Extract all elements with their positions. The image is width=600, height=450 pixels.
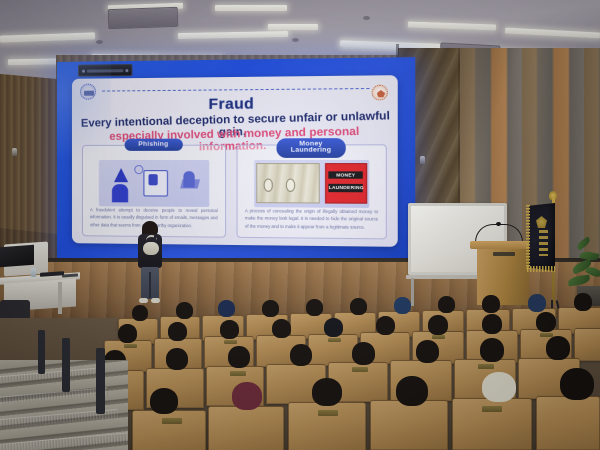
wall-sensor-icon: [420, 156, 425, 164]
podium-nameplate: [493, 252, 515, 256]
slide-background: Fraud Every intentional deception to sec…: [57, 57, 415, 265]
audience-head-cap: [528, 294, 546, 312]
audience-head: [536, 312, 556, 332]
ceiling-light: [178, 31, 288, 39]
audience-head: [176, 302, 193, 319]
ceiling-speaker: [292, 38, 299, 42]
water-bottle: [31, 268, 36, 277]
ceiling-light: [215, 5, 287, 11]
projection-screen[interactable]: Fraud Every intentional deception to sec…: [57, 57, 415, 265]
seat-number-plate: [124, 344, 137, 348]
seat-number-plate: [162, 418, 182, 424]
red-warning-block: MONEY LAUNDERING: [325, 163, 367, 204]
ceiling-vent: [108, 7, 179, 29]
seat-number-plate: [224, 340, 237, 344]
audience-head: [262, 300, 279, 317]
seat: [370, 400, 448, 450]
toolbar-dot-icon: [82, 69, 85, 72]
audience-head: [350, 298, 367, 315]
audience-head: [428, 315, 448, 335]
bubble-shape: [135, 165, 144, 174]
audience-head-white-cap: [482, 372, 516, 402]
audience-head: [228, 346, 250, 368]
organization-seal-logo-icon: [80, 84, 96, 100]
audience-head-cap: [394, 297, 411, 314]
audience-head: [438, 296, 455, 313]
graphic-text-money: MONEY: [329, 171, 363, 179]
seat: [574, 328, 600, 361]
audience-head: [306, 299, 323, 316]
control-monitor-screen: [0, 245, 34, 267]
presentation-toolbar[interactable]: [78, 64, 132, 77]
seat-number-plate: [478, 364, 494, 369]
seat: [536, 396, 600, 450]
banknote-portrait: [285, 178, 295, 191]
toolbar-dot-icon: [125, 69, 128, 72]
slide-card: Fraud Every intentional deception to sec…: [72, 75, 398, 247]
ceiling-speaker: [96, 40, 103, 44]
person-shape: [111, 184, 127, 202]
hook-shape: [114, 168, 128, 182]
panel-label-money-laundering: Money Laundering: [276, 138, 346, 158]
decorative-dashed-line: [102, 88, 369, 92]
whiteboard-leg: [411, 278, 414, 306]
panel-label-phishing: Phishing: [124, 139, 183, 151]
seat-number-plate: [318, 410, 338, 416]
audience-person-maroon: [232, 382, 262, 410]
audience-head: [272, 319, 291, 338]
audience-head: [352, 342, 375, 365]
lock-shape: [149, 174, 158, 185]
seat-number-plate: [432, 335, 445, 339]
audience-head: [482, 314, 502, 334]
audience-head-cap: [324, 318, 343, 337]
audience-head: [168, 322, 187, 341]
audience-head: [480, 338, 504, 362]
audience-head: [546, 336, 570, 360]
money-laundering-illustration-icon: MONEY LAUNDERING: [254, 160, 370, 208]
banknote-portrait: [263, 178, 272, 191]
audience-head: [482, 295, 500, 313]
flag-bottom-fringe: [527, 266, 555, 272]
presenter-shoe: [151, 298, 160, 303]
seat-number-plate: [352, 367, 368, 372]
lecture-hall-photo: Fraud Every intentional deception to sec…: [0, 0, 600, 450]
wall-sensor-icon: [12, 148, 17, 156]
audience-head: [118, 324, 137, 343]
ceiling-light: [268, 24, 318, 30]
audience-head: [290, 344, 312, 366]
phishing-illustration-icon: [98, 160, 209, 207]
aisle-rail: [38, 330, 45, 374]
podium-microphone-icon: [496, 222, 501, 226]
audience-head: [220, 320, 239, 339]
presenter-leg-gap: [149, 272, 151, 298]
graphic-text-laundering: LAUNDERING: [329, 184, 363, 192]
seat-number-plate: [482, 406, 502, 412]
desk-leg: [58, 282, 62, 314]
audience-head: [166, 348, 188, 370]
audience-head-cap: [218, 300, 235, 317]
presenter-bag: [143, 242, 159, 255]
second-person-shape: [183, 171, 194, 187]
toolbar-bar-icon: [87, 69, 123, 72]
aisle-rail: [96, 348, 105, 414]
audience-head: [396, 376, 428, 406]
ceiling-light: [505, 28, 600, 39]
aisle-rail: [62, 338, 70, 392]
panel-body-money-laundering: A process of concealing the origin of il…: [245, 207, 378, 231]
podium-microphone-arm: [475, 224, 523, 242]
audience-head: [312, 378, 342, 406]
flag-lettering: [539, 230, 548, 256]
ceiling-light: [408, 21, 496, 30]
ceiling-speaker: [363, 16, 370, 20]
seat: [208, 406, 284, 450]
presenter: [133, 222, 167, 306]
audience-head: [132, 305, 148, 321]
presenter-shoe: [139, 298, 148, 303]
audience-head: [574, 293, 592, 311]
audience-head: [150, 388, 178, 414]
seat-number-plate: [230, 371, 246, 376]
panel-money-laundering: Money Laundering MONEY LAUNDERING A: [237, 144, 387, 239]
slide-panels: Phishing A fraudulent attempt to deceive…: [82, 144, 387, 239]
seat-number-plate: [328, 338, 341, 342]
ceiling-light: [0, 32, 95, 42]
audience-head: [416, 340, 439, 363]
seat: [132, 410, 206, 450]
flag-fringe: [526, 205, 530, 269]
microphone-icon: [154, 234, 156, 241]
banknotes-shape: [256, 163, 320, 204]
audience-head: [376, 316, 395, 335]
audience-head: [560, 368, 594, 400]
